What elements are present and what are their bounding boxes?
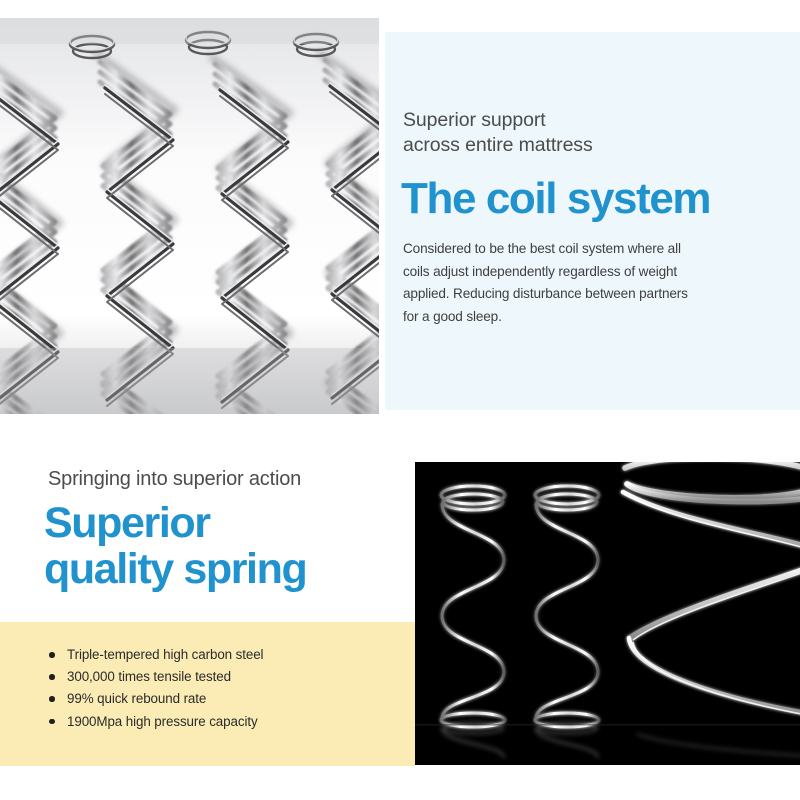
bullet-icon xyxy=(49,696,55,702)
spring-heading-panel: Springing into superior action Superior … xyxy=(0,440,415,622)
coil-body-line1: Considered to be the best coil system wh… xyxy=(403,238,733,261)
coil-body-line3: applied. Reducing disturbance between pa… xyxy=(403,283,733,306)
feature-label: 1900Mpa high pressure capacity xyxy=(67,714,258,729)
feature-list: Triple-tempered high carbon steel 300,00… xyxy=(48,644,263,733)
feature-label: Triple-tempered high carbon steel xyxy=(67,647,263,662)
coil-headline: The coil system xyxy=(401,174,710,224)
coil-body-text: Considered to be the best coil system wh… xyxy=(403,238,733,328)
list-item: 99% quick rebound rate xyxy=(48,688,263,710)
coil-body-line2: coils adjust independently regardless of… xyxy=(403,261,733,284)
bullet-icon xyxy=(49,719,55,725)
spring-headline-line2: quality spring xyxy=(44,546,306,592)
spring-closeup-photo xyxy=(415,462,800,765)
coil-system-panel: Superior support across entire mattress … xyxy=(385,32,800,410)
coil-body-line4: for a good sleep. xyxy=(403,306,733,329)
feature-label: 300,000 times tensile tested xyxy=(67,669,231,684)
coil-springs-photo xyxy=(0,18,379,414)
spring-headline: Superior quality spring xyxy=(44,500,306,592)
coil-kicker: Superior support across entire mattress xyxy=(403,108,783,158)
infographic-page: Superior support across entire mattress … xyxy=(0,0,800,800)
spring-kicker: Springing into superior action xyxy=(48,466,301,492)
list-item: Triple-tempered high carbon steel xyxy=(48,644,263,666)
coil-kicker-line2: across entire mattress xyxy=(403,133,783,158)
coil-kicker-line1: Superior support xyxy=(403,108,783,133)
spring-headline-line1: Superior xyxy=(44,500,306,546)
features-panel: Triple-tempered high carbon steel 300,00… xyxy=(0,622,415,766)
list-item: 300,000 times tensile tested xyxy=(48,666,263,688)
list-item: 1900Mpa high pressure capacity xyxy=(48,711,263,733)
bullet-icon xyxy=(49,652,55,658)
bullet-icon xyxy=(49,674,55,680)
feature-label: 99% quick rebound rate xyxy=(67,691,206,706)
